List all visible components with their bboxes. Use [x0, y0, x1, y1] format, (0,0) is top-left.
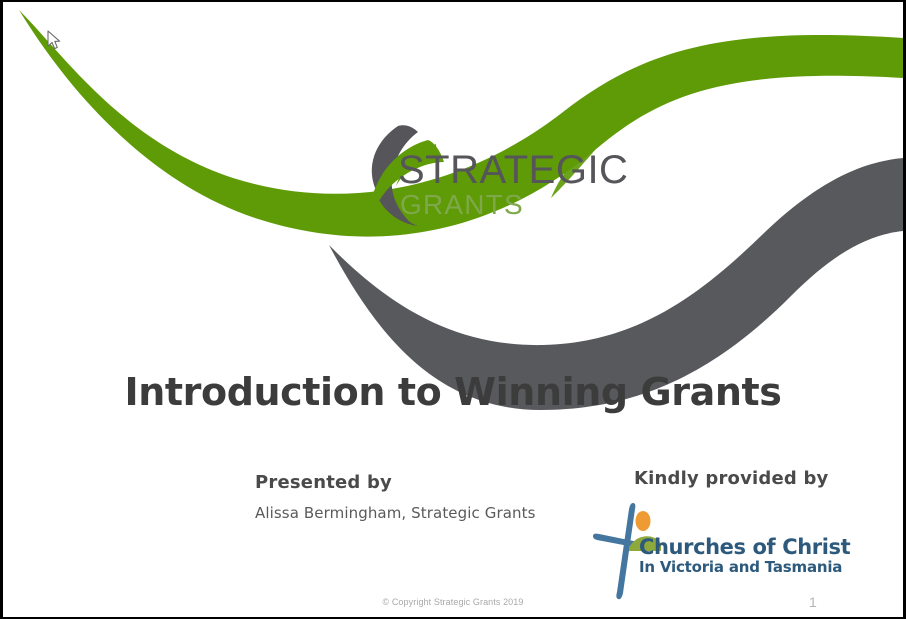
churches-of-christ-name: Churches of Christ In Victoria and Tasma…	[639, 537, 839, 575]
sponsor-block: Kindly provided by Churches of Christ In…	[589, 468, 869, 601]
wordmark-strategic: STRATEGIC	[398, 150, 628, 190]
slide-page-number: 1	[809, 594, 817, 610]
presented-by-heading: Presented by	[255, 472, 585, 493]
wordmark-grants: GRANTS	[400, 191, 524, 219]
churches-of-christ-logo: Churches of Christ In Victoria and Tasma…	[589, 501, 834, 601]
slide-canvas: STRATEGIC GRANTS Introduction to Winning…	[3, 2, 903, 617]
slide-title: Introduction to Winning Grants	[3, 370, 903, 414]
copyright-notice: © Copyright Strategic Grants 2019	[3, 597, 903, 607]
presentation-slide-viewer: STRATEGIC GRANTS Introduction to Winning…	[0, 0, 906, 619]
sponsor-heading: Kindly provided by	[634, 468, 869, 489]
cross-vertical-icon	[616, 503, 635, 599]
presenter-name: Alissa Bermingham, Strategic Grants	[255, 504, 585, 522]
presented-by-block: Presented by Alissa Bermingham, Strategi…	[255, 472, 585, 522]
sponsor-name-line2: In Victoria and Tasmania	[639, 559, 839, 576]
figure-head-icon	[636, 511, 651, 531]
strategic-grants-wordmark: STRATEGIC GRANTS	[398, 150, 598, 222]
sponsor-name-line1: Churches of Christ	[639, 537, 839, 559]
